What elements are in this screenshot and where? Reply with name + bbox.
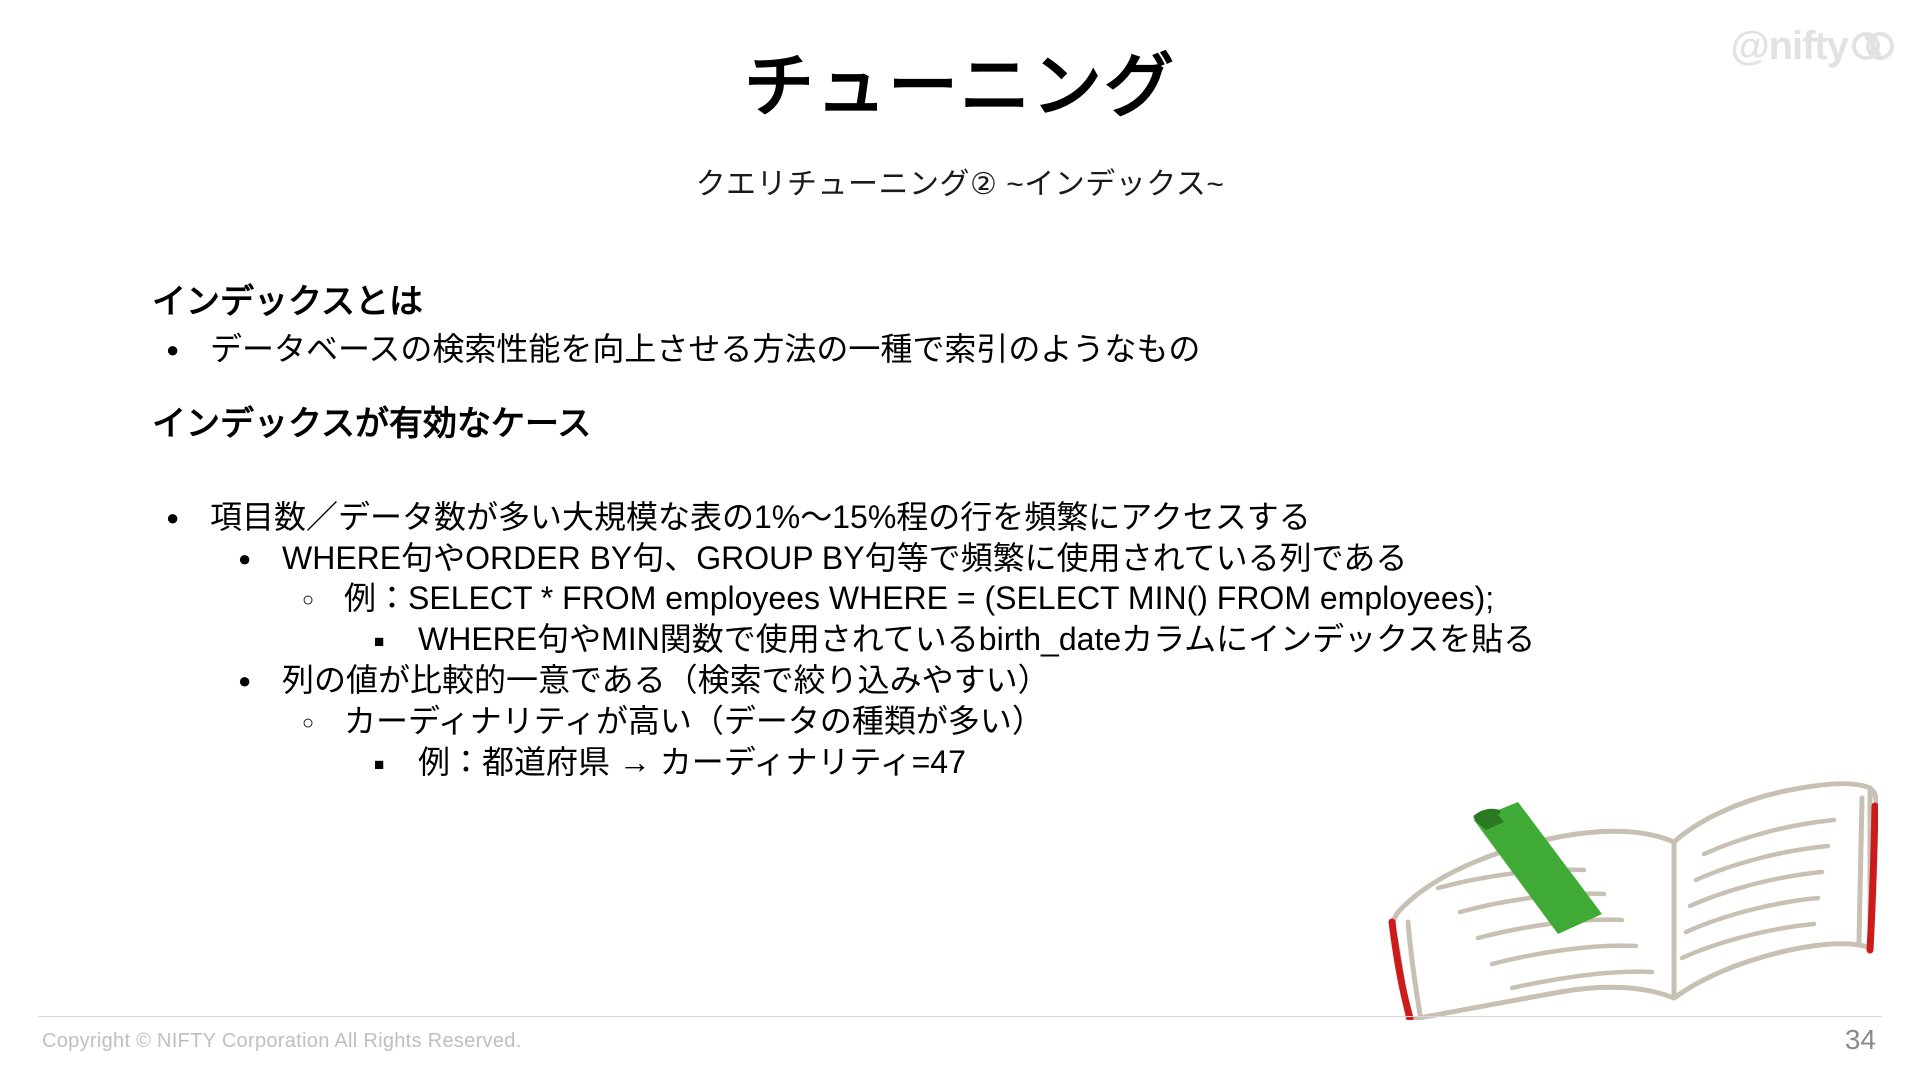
slide-canvas: @nifty チューニング クエリチューニング② ~インデックス~ インデックス… bbox=[0, 0, 1920, 1080]
list-item: ● 列の値が比較的一意である（検索で絞り込みやすい） bbox=[238, 660, 1852, 701]
bullet-marker-filled-circle-icon: ● bbox=[166, 339, 210, 361]
list-item-label: 列の値が比較的一意である（検索で絞り込みやすい） bbox=[282, 660, 1050, 701]
list-item: ○ 例：SELECT * FROM employees WHERE = (SEL… bbox=[302, 578, 1852, 619]
list-item: ○ カーディナリティが高い（データの種類が多い） bbox=[302, 701, 1852, 742]
list-item: ■ WHERE句やMIN関数で使用されているbirth_dateカラムにインデッ… bbox=[374, 619, 1852, 660]
list-item-label: データベースの検索性能を向上させる方法の一種で索引のようなもの bbox=[210, 329, 1200, 370]
page-title: チューニング bbox=[0, 48, 1920, 125]
list-item: ● WHERE句やORDER BY句、GROUP BY句等で頻繁に使用されている… bbox=[238, 538, 1852, 579]
list-item-label: カーディナリティが高い（データの種類が多い） bbox=[344, 701, 1044, 742]
page-number: 34 bbox=[1845, 1024, 1876, 1056]
list-item: ● データベースの検索性能を向上させる方法の一種で索引のようなもの bbox=[166, 329, 1852, 370]
spacer bbox=[152, 370, 1852, 404]
footer-copyright: Copyright © NIFTY Corporation All Rights… bbox=[42, 1030, 522, 1053]
list-item-label: 例：都道府県 → カーディナリティ=47 bbox=[418, 742, 966, 783]
footer-divider bbox=[38, 1016, 1882, 1017]
bullet-marker-filled-circle-icon: ● bbox=[238, 548, 282, 570]
list-item-label: 例：SELECT * FROM employees WHERE = (SELEC… bbox=[344, 578, 1494, 619]
open-book-illustration bbox=[1378, 762, 1878, 1020]
bullet-marker-hollow-circle-icon: ○ bbox=[302, 713, 344, 733]
bullet-marker-filled-circle-icon: ● bbox=[166, 507, 210, 529]
bullet-marker-filled-square-icon: ■ bbox=[374, 633, 418, 650]
bullet-marker-filled-circle-icon: ● bbox=[238, 670, 282, 692]
section-heading-index-definition: インデックスとは bbox=[152, 282, 1852, 323]
list-item-label: WHERE句やORDER BY句、GROUP BY句等で頻繁に使用されている列で… bbox=[282, 538, 1407, 579]
bullet-marker-hollow-circle-icon: ○ bbox=[302, 590, 344, 610]
title-block: チューニング クエリチューニング② ~インデックス~ bbox=[0, 48, 1920, 203]
list-item-label: 項目数／データ数が多い大規模な表の1%〜15%程の行を頻繁にアクセスする bbox=[210, 497, 1311, 538]
list-item-label: WHERE句やMIN関数で使用されているbirth_dateカラムにインデックス… bbox=[418, 619, 1535, 660]
slide-body: インデックスとは ● データベースの検索性能を向上させる方法の一種で索引のような… bbox=[152, 282, 1852, 783]
spacer bbox=[152, 445, 1852, 497]
page-subtitle: クエリチューニング② ~インデックス~ bbox=[0, 159, 1920, 203]
section-heading-effective-cases: インデックスが有効なケース bbox=[152, 404, 1852, 445]
bullet-marker-filled-square-icon: ■ bbox=[374, 756, 418, 773]
list-item: ● 項目数／データ数が多い大規模な表の1%〜15%程の行を頻繁にアクセスする bbox=[166, 497, 1852, 538]
